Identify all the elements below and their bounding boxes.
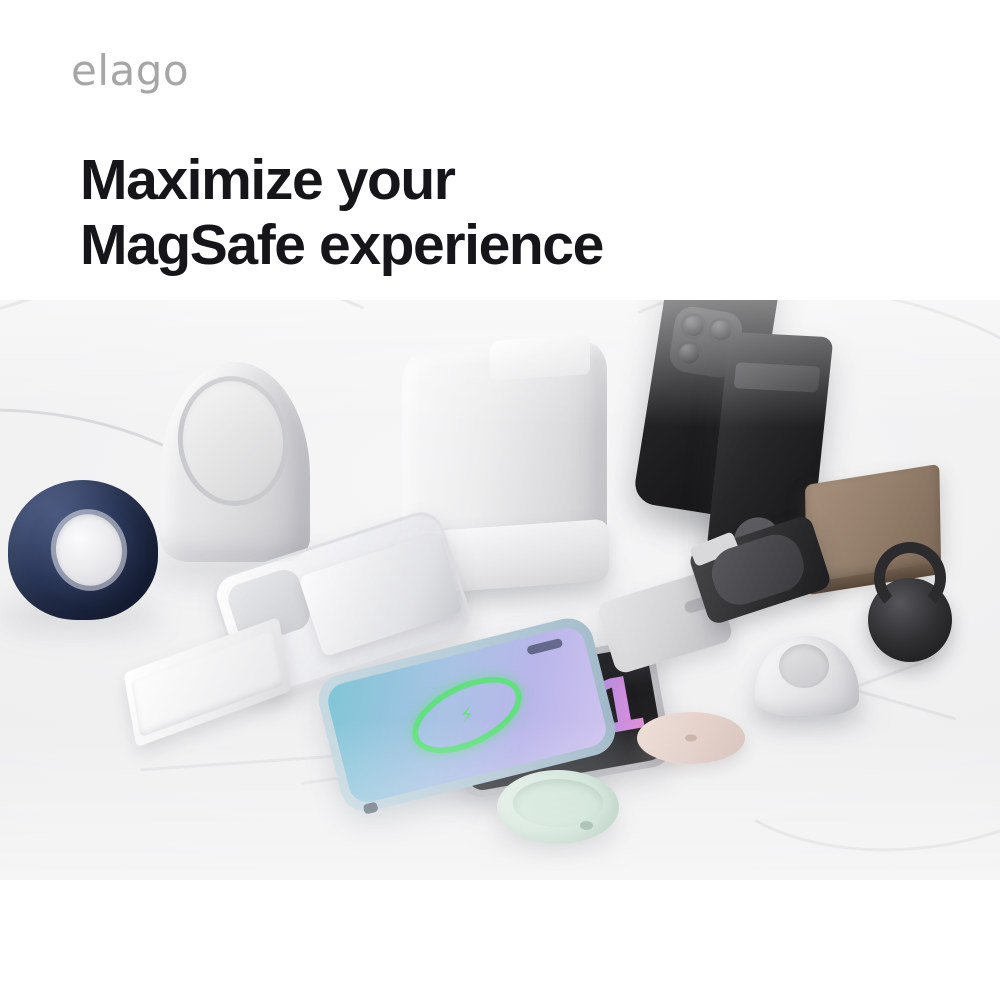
product-navy-sphere-charger[interactable] [8, 480, 158, 620]
product-black-ring-grip[interactable] [868, 578, 952, 662]
attached-card-holder [298, 532, 463, 657]
tray-recess [513, 779, 603, 827]
magsafe-pad [49, 508, 129, 592]
product-mint-tray[interactable] [497, 770, 619, 844]
camera-lens-icon [674, 339, 704, 369]
card-slot [734, 362, 821, 392]
banner-header: elago Maximize your MagSafe experience [0, 0, 1000, 300]
magsafe-pad [172, 371, 295, 512]
stand-lip [490, 334, 590, 381]
brand-logo: elago [71, 50, 189, 92]
product-photo-band: 9:41 [0, 300, 1000, 880]
banner-footer: *Compatible accessories are not included… [0, 880, 1000, 1000]
dome-opening [779, 644, 829, 688]
product-pink-charging-pad[interactable] [637, 712, 745, 764]
camera-lens-icon [679, 311, 709, 341]
promo-banner: elago Maximize your MagSafe experience [0, 0, 1000, 1000]
dynamic-island-icon [526, 638, 563, 655]
tray-detail [580, 821, 593, 830]
ring-loop-icon [874, 542, 946, 614]
page-title: Maximize your MagSafe experience [80, 148, 603, 278]
pad-center-detail [685, 735, 697, 742]
